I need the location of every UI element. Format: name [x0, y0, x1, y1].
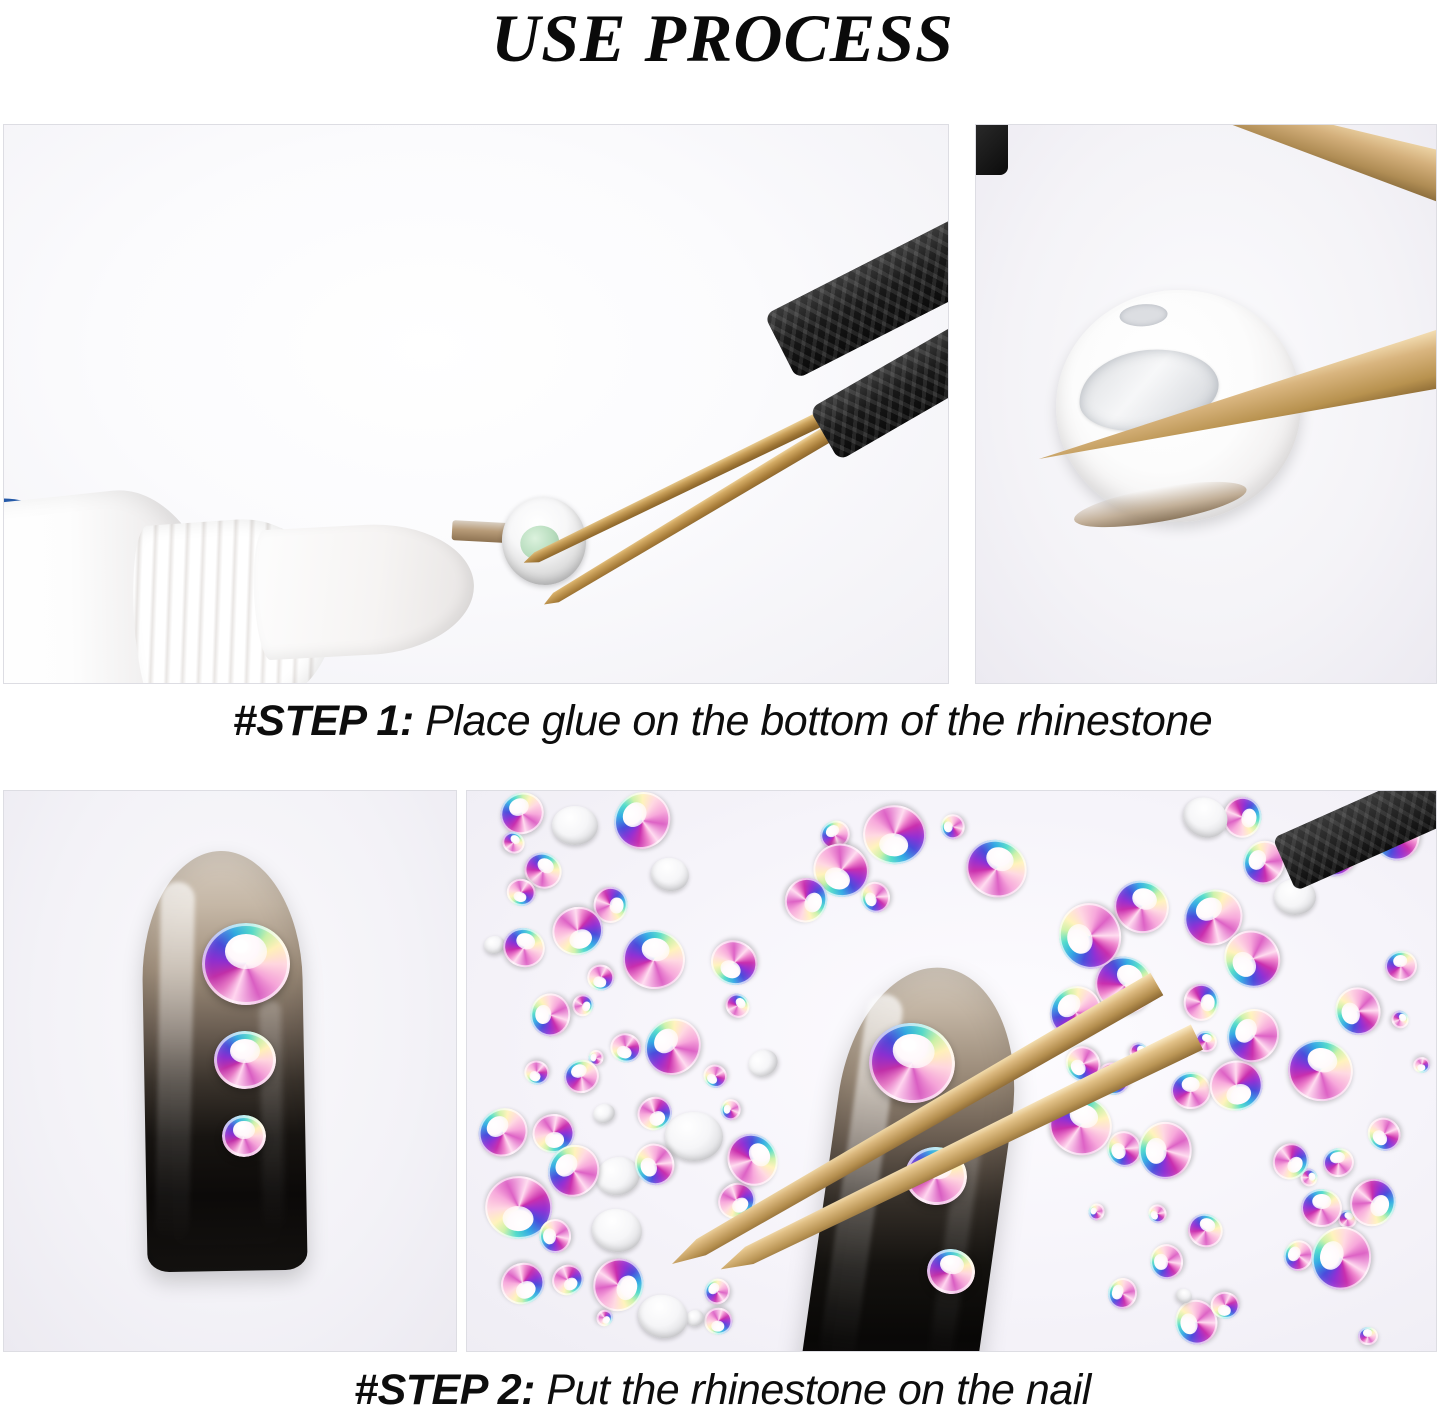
rhinestone-scattered	[493, 790, 550, 841]
rhinestone-scattered	[546, 1259, 589, 1302]
glue-bubble	[1119, 303, 1168, 328]
photo-glued-rhinestone-back-scene	[976, 125, 1436, 683]
photo-glue-on-rhinestone	[3, 124, 949, 684]
crystal-dome	[1364, 1329, 1373, 1336]
rhinestone-scattered	[1301, 1188, 1343, 1228]
step-1-caption: #STEP 1: Place glue on the bottom of the…	[0, 697, 1445, 745]
rhinestone-small	[222, 1115, 266, 1157]
rhinestone-scattered	[704, 1308, 733, 1335]
crystal-dome	[590, 1053, 597, 1061]
rhinestone-foil-back	[589, 1205, 644, 1254]
use-process-infographic: USE PROCESS #STEP	[0, 0, 1445, 1412]
rhinestone-scattered	[941, 814, 965, 840]
rhinestone-foil-back	[648, 854, 692, 894]
rhinestone-large	[202, 923, 290, 1005]
rhinestone-scattered	[1413, 1056, 1431, 1073]
rhinestone-foil-back	[634, 1290, 693, 1344]
step-1-text: Place glue on the bottom of the rhinesto…	[414, 697, 1212, 745]
rhinestone-scattered	[618, 925, 689, 993]
rhinestone-scattered	[1361, 1111, 1408, 1158]
photo-glue-on-rhinestone-scene	[4, 125, 948, 683]
rhinestone-scattered	[1320, 1145, 1356, 1180]
rhinestone-foil-back	[744, 1045, 783, 1082]
rhinestone-scattered	[538, 1218, 572, 1254]
crystal-sparkle-icon	[237, 1123, 245, 1130]
rhinestone-scattered	[1170, 1071, 1211, 1110]
step-2-caption: #STEP 2: Put the rhinestone on the nail	[0, 1366, 1445, 1414]
rhinestone-scattered	[1146, 1201, 1170, 1226]
rhinestone-rim	[1071, 473, 1249, 537]
rhinestone-scattered	[1305, 1220, 1379, 1297]
rhinestone-scattered	[603, 790, 682, 860]
step-2-label: #STEP 2:	[354, 1366, 535, 1414]
crystal-rim	[603, 790, 682, 860]
step-1-label: #STEP 1:	[233, 697, 414, 745]
rhinestone-scattered	[703, 932, 765, 993]
crystal-dome	[1181, 1076, 1200, 1092]
crystal-dome	[543, 1228, 557, 1244]
photo-finished-nail	[3, 790, 457, 1352]
rhinestone-scattered	[494, 1255, 551, 1311]
crystal-sparkle-icon	[235, 1043, 246, 1052]
photo-applying-rhinestone	[466, 790, 1437, 1352]
rhinestone-medium	[214, 1031, 276, 1089]
rhinestone-scattered	[606, 1028, 645, 1066]
photo-applying-rhinestone-scene	[467, 791, 1436, 1351]
photo-finished-nail-scene	[4, 791, 456, 1351]
rhinestone-scattered	[1204, 1054, 1268, 1116]
crystal-dome	[712, 1321, 725, 1332]
rhinestone-foil-back	[552, 806, 598, 846]
rhinestone-scattered	[1183, 983, 1219, 1022]
rhinestone-foil-back	[591, 1101, 618, 1126]
rhinestone-scattered	[1282, 1034, 1359, 1108]
rhinestone-scattered	[1358, 1326, 1378, 1344]
tweezers-upper-arm-icon	[1047, 124, 1437, 206]
crystal-dome	[1200, 994, 1215, 1012]
rhinestone-scattered	[1383, 949, 1419, 983]
rhinestone-scattered	[1148, 1242, 1185, 1281]
rhinestone-scattered	[498, 922, 550, 973]
crystal-dome	[609, 897, 624, 915]
rhinestone-foil-back	[665, 1112, 722, 1161]
rhinestone-scattered	[698, 1060, 731, 1093]
rhinestone-scattered	[529, 993, 571, 1038]
rhinestone-scattered	[699, 1274, 735, 1310]
rhinestone-scattered	[1183, 1208, 1228, 1252]
step-2-text: Put the rhinestone on the nail	[535, 1366, 1091, 1414]
tweezers-grip-corner	[975, 124, 1008, 175]
rhinestone-scattered	[721, 989, 755, 1023]
rhinestone-scattered	[720, 1098, 742, 1121]
rhinestone-scattered	[958, 831, 1036, 907]
crystal-dome	[225, 934, 267, 968]
rhinestone-scattered	[520, 1057, 553, 1089]
photo-glued-rhinestone-back	[975, 124, 1437, 684]
rhinestone-scattered	[861, 803, 929, 868]
rhinestone-scattered	[1104, 1275, 1140, 1313]
page-title: USE PROCESS	[0, 2, 1445, 74]
rhinestone-foil-back	[1177, 791, 1234, 845]
rhinestone-scattered	[469, 1098, 537, 1166]
rhinestone-scattered	[1329, 982, 1386, 1041]
rhinestone-scattered	[633, 1007, 712, 1086]
glue-bottle-nozzle	[251, 519, 478, 660]
crystal-dome	[1312, 1193, 1331, 1209]
rhinestone-scattered	[1086, 1202, 1106, 1223]
rhinestone-scattered	[1388, 1007, 1413, 1032]
rhinestone-scattered	[585, 962, 617, 993]
rhinestone-scattered	[1139, 1122, 1193, 1179]
crystal-sparkle-icon	[232, 939, 248, 952]
rhinestone-scattered	[570, 991, 597, 1018]
